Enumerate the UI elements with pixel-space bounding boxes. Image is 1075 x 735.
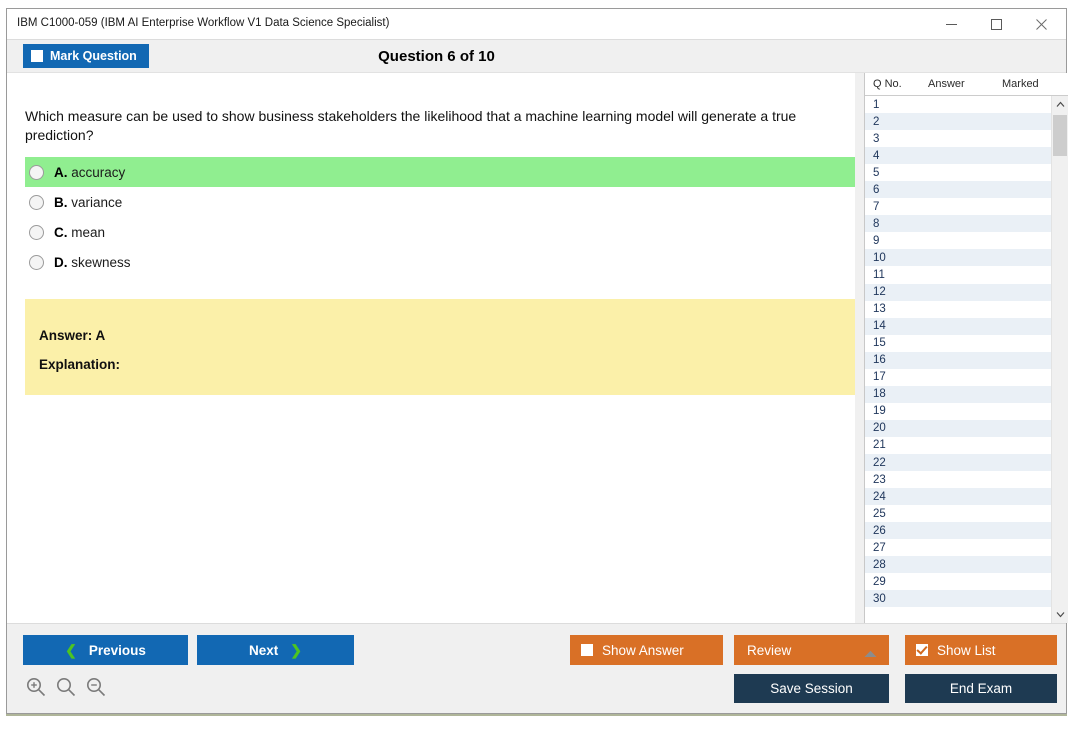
question-number: 19 xyxy=(865,405,921,417)
question-list-row[interactable]: 17 xyxy=(865,369,1051,386)
answer-text: Answer: A xyxy=(39,328,105,343)
question-number: 1 xyxy=(865,99,921,111)
explanation-text: Explanation: xyxy=(39,357,120,372)
save-session-label: Save Session xyxy=(770,681,853,696)
review-dropdown[interactable]: Review xyxy=(734,635,889,665)
question-list-row[interactable]: 1 xyxy=(865,96,1051,113)
option-row-c[interactable]: C. mean xyxy=(25,217,855,247)
question-list-row[interactable]: 5 xyxy=(865,164,1051,181)
question-number: 12 xyxy=(865,286,921,298)
question-list-row[interactable]: 28 xyxy=(865,556,1051,573)
question-text: Which measure can be used to show busine… xyxy=(25,107,845,145)
question-number: 15 xyxy=(865,337,921,349)
radio-icon-d[interactable] xyxy=(29,255,44,270)
question-list-row[interactable]: 29 xyxy=(865,573,1051,590)
radio-icon-c[interactable] xyxy=(29,225,44,240)
chevron-right-icon: ❯ xyxy=(290,642,302,659)
question-number: 7 xyxy=(865,201,921,213)
option-label-c: C. mean xyxy=(54,225,105,240)
question-number: 8 xyxy=(865,218,921,230)
save-session-button[interactable]: Save Session xyxy=(734,674,889,703)
next-button[interactable]: Next ❯ xyxy=(197,635,354,665)
zoom-controls xyxy=(25,676,107,698)
question-list-row[interactable]: 20 xyxy=(865,420,1051,437)
minimize-button[interactable] xyxy=(929,9,974,39)
question-list-row[interactable]: 19 xyxy=(865,403,1051,420)
options-list: A. accuracy B. variance C. mean D. skewn… xyxy=(25,157,855,277)
question-list-scrollbar[interactable] xyxy=(1051,96,1068,623)
header-bar: Mark Question Question 6 of 10 xyxy=(7,40,1066,73)
question-list-row[interactable]: 26 xyxy=(865,522,1051,539)
question-list-header: Q No. Answer Marked xyxy=(865,73,1068,96)
question-number: 27 xyxy=(865,542,921,554)
chevron-up-icon xyxy=(1056,101,1065,108)
question-list-row[interactable]: 4 xyxy=(865,147,1051,164)
show-list-label: Show List xyxy=(937,643,996,658)
question-list-row[interactable]: 7 xyxy=(865,198,1051,215)
scrollbar-thumb[interactable] xyxy=(1053,115,1067,156)
question-number: 29 xyxy=(865,576,921,588)
zoom-in-icon[interactable] xyxy=(25,676,47,698)
question-number: 20 xyxy=(865,422,921,434)
question-list-row[interactable]: 15 xyxy=(865,335,1051,352)
option-row-b[interactable]: B. variance xyxy=(25,187,855,217)
window-title: IBM C1000-059 (IBM AI Enterprise Workflo… xyxy=(17,17,389,29)
column-header-qno: Q No. xyxy=(873,78,902,90)
option-label-a: A. accuracy xyxy=(54,165,125,180)
question-number: 25 xyxy=(865,508,921,520)
question-list-row[interactable]: 30 xyxy=(865,590,1051,607)
question-number: 26 xyxy=(865,525,921,537)
scroll-down-button[interactable] xyxy=(1052,606,1068,623)
question-list-row[interactable]: 13 xyxy=(865,301,1051,318)
radio-icon-b[interactable] xyxy=(29,195,44,210)
app-screen: IBM C1000-059 (IBM AI Enterprise Workflo… xyxy=(0,0,1075,735)
question-list-row[interactable]: 10 xyxy=(865,249,1051,266)
question-list-row[interactable]: 22 xyxy=(865,454,1051,471)
column-header-answer: Answer xyxy=(928,78,965,90)
question-list-rows[interactable]: 1234567891011121314151617181920212223242… xyxy=(865,96,1051,623)
title-bar: IBM C1000-059 (IBM AI Enterprise Workflo… xyxy=(7,9,1066,40)
close-icon xyxy=(1035,18,1048,31)
question-number: 11 xyxy=(865,269,921,281)
maximize-icon xyxy=(990,18,1003,31)
question-list-row[interactable]: 21 xyxy=(865,437,1051,454)
question-list-panel: Q No. Answer Marked 12345678910111213141… xyxy=(864,73,1068,623)
zoom-reset-icon[interactable] xyxy=(55,676,77,698)
next-label: Next xyxy=(249,643,278,658)
answer-explanation-panel: Answer: A Explanation: xyxy=(25,299,855,395)
question-number: 30 xyxy=(865,593,921,605)
show-answer-label: Show Answer xyxy=(602,643,684,658)
question-list-row[interactable]: 8 xyxy=(865,215,1051,232)
question-list-row[interactable]: 25 xyxy=(865,505,1051,522)
question-number: 5 xyxy=(865,167,921,179)
minimize-icon xyxy=(945,18,958,31)
show-list-button[interactable]: Show List xyxy=(905,635,1057,665)
question-number: 23 xyxy=(865,474,921,486)
show-answer-checkbox[interactable] xyxy=(581,644,593,656)
question-number: 13 xyxy=(865,303,921,315)
question-number: 4 xyxy=(865,150,921,162)
exam-window: IBM C1000-059 (IBM AI Enterprise Workflo… xyxy=(6,8,1067,714)
question-list-row[interactable]: 11 xyxy=(865,266,1051,283)
previous-button[interactable]: ❮ Previous xyxy=(23,635,188,665)
option-label-d: D. skewness xyxy=(54,255,131,270)
review-label: Review xyxy=(747,643,791,658)
option-label-b: B. variance xyxy=(54,195,122,210)
question-list-row[interactable]: 3 xyxy=(865,130,1051,147)
question-number: 28 xyxy=(865,559,921,571)
question-list-row[interactable]: 18 xyxy=(865,386,1051,403)
question-number: 16 xyxy=(865,354,921,366)
chevron-down-icon xyxy=(1056,611,1065,618)
question-number: 3 xyxy=(865,133,921,145)
question-number: 14 xyxy=(865,320,921,332)
question-list-row[interactable]: 9 xyxy=(865,232,1051,249)
maximize-button[interactable] xyxy=(974,9,1019,39)
column-header-marked: Marked xyxy=(1002,78,1039,90)
question-list-row[interactable]: 2 xyxy=(865,113,1051,130)
scroll-up-button[interactable] xyxy=(1052,96,1068,113)
question-number: 9 xyxy=(865,235,921,247)
question-number: 18 xyxy=(865,388,921,400)
question-list-row[interactable]: 6 xyxy=(865,181,1051,198)
option-row-d[interactable]: D. skewness xyxy=(25,247,855,277)
show-answer-button[interactable]: Show Answer xyxy=(570,635,723,665)
question-number: 2 xyxy=(865,116,921,128)
bottom-toolbar: ❮ Previous Next ❯ Show Answer Review Sho… xyxy=(7,623,1066,713)
question-list-row[interactable]: 12 xyxy=(865,284,1051,301)
question-list-row[interactable]: 14 xyxy=(865,318,1051,335)
question-number: 6 xyxy=(865,184,921,196)
question-counter: Question 6 of 10 xyxy=(7,48,1066,65)
previous-label: Previous xyxy=(89,643,146,658)
question-number: 22 xyxy=(865,457,921,469)
question-number: 10 xyxy=(865,252,921,264)
question-list-row[interactable]: 16 xyxy=(865,352,1051,369)
end-exam-label: End Exam xyxy=(950,681,1012,696)
end-exam-button[interactable]: End Exam xyxy=(905,674,1057,703)
question-list-row[interactable]: 27 xyxy=(865,539,1051,556)
caret-up-icon xyxy=(864,646,877,661)
question-list-row[interactable]: 23 xyxy=(865,471,1051,488)
close-button[interactable] xyxy=(1019,9,1064,39)
zoom-out-icon[interactable] xyxy=(85,676,107,698)
question-list-row[interactable]: 24 xyxy=(865,488,1051,505)
show-list-checkbox[interactable] xyxy=(916,644,928,656)
chevron-left-icon: ❮ xyxy=(65,642,77,659)
radio-icon-a[interactable] xyxy=(29,165,44,180)
question-number: 17 xyxy=(865,371,921,383)
question-number: 21 xyxy=(865,439,921,451)
question-number: 24 xyxy=(865,491,921,503)
question-panel: Which measure can be used to show busine… xyxy=(7,73,855,623)
option-row-a[interactable]: A. accuracy xyxy=(25,157,855,187)
